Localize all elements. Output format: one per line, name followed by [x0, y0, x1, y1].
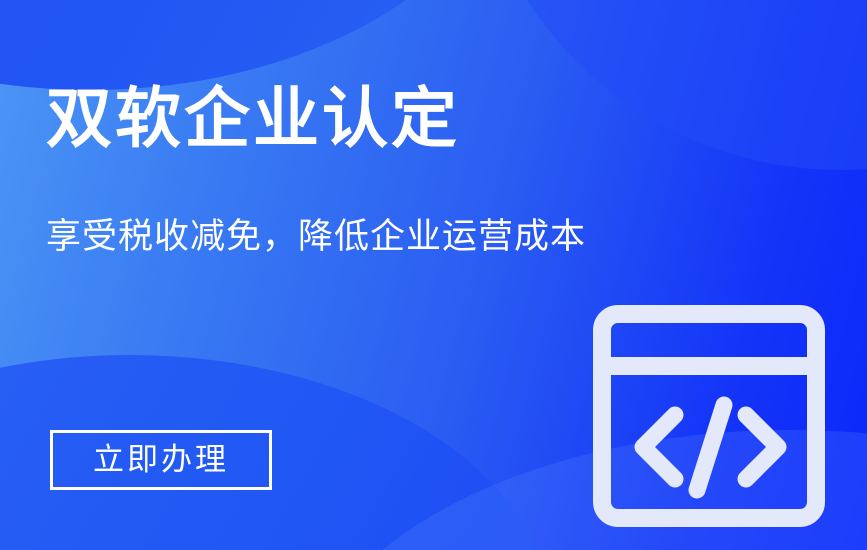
code-window-icon: [593, 305, 825, 527]
promo-banner: 双软企业认定 享受税收减免，降低企业运营成本 立即办理: [0, 0, 867, 550]
banner-headline: 双软企业认定: [46, 86, 460, 152]
banner-subheadline: 享受税收减免，降低企业运营成本: [46, 218, 586, 257]
apply-now-button[interactable]: 立即办理: [50, 430, 272, 490]
banner-content: 双软企业认定 享受税收减免，降低企业运营成本 立即办理: [0, 0, 867, 550]
